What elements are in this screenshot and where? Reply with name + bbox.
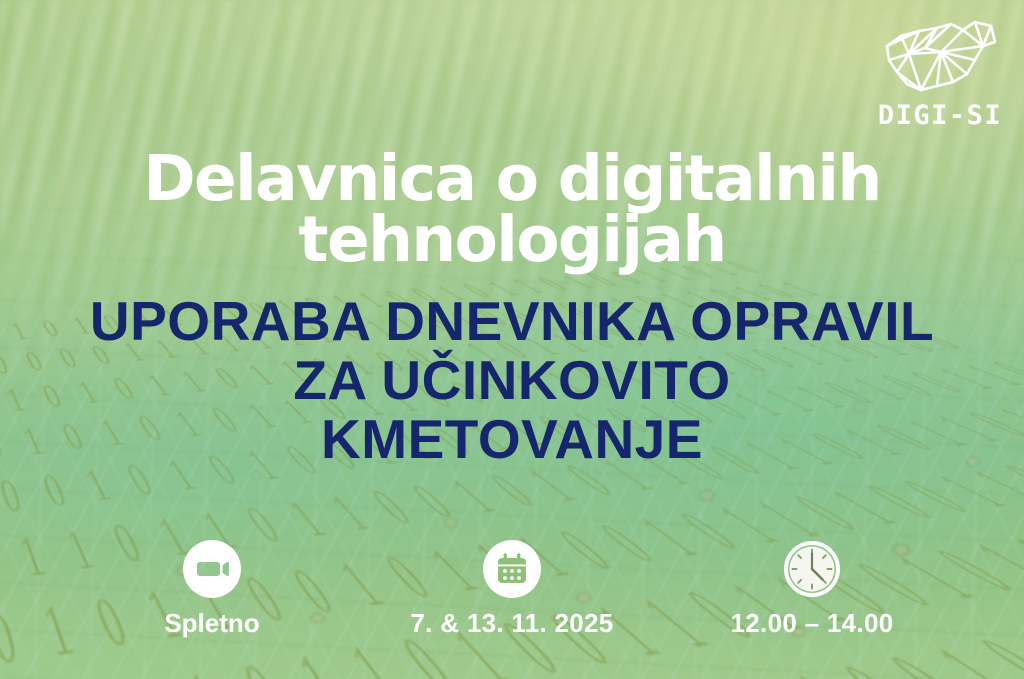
page-subtitle: UPORABA DNEVNIKA OPRAVIL ZA UČINKOVITO K…: [32, 292, 992, 469]
digi-si-wordmark: DIGI-SI: [878, 102, 1002, 129]
event-details-row: Spletno 7. & 13. 11. 2025: [0, 540, 1024, 636]
calendar-icon: [483, 540, 541, 598]
poster: 1 0 0 1 1 0 1 0 0 1 1 1 0 1 0 1 1 0 0 1 …: [0, 0, 1024, 679]
event-time-label: 12.00 – 14.00: [731, 610, 894, 636]
subtitle-line-3: KMETOVANJE: [32, 410, 992, 469]
event-detail-time: 12.00 – 14.00: [662, 540, 962, 636]
event-date-label: 7. & 13. 11. 2025: [410, 610, 613, 636]
event-format-label: Spletno: [164, 610, 259, 636]
title-line-1: Delavnica o digitalnih: [62, 148, 962, 209]
subtitle-line-2: ZA UČINKOVITO: [32, 351, 992, 410]
event-detail-format: Spletno: [62, 540, 362, 636]
slovenia-triangulated-outline-icon: [879, 16, 1001, 98]
page-title: Delavnica o digitalnih tehnologijah: [62, 148, 962, 270]
clock-icon: [783, 540, 841, 598]
event-detail-date: 7. & 13. 11. 2025: [362, 540, 662, 636]
subtitle-line-1: UPORABA DNEVNIKA OPRAVIL: [32, 292, 992, 351]
video-camera-icon: [183, 540, 241, 598]
digi-si-logo: DIGI-SI: [874, 16, 1006, 129]
title-line-2: tehnologijah: [62, 209, 962, 270]
